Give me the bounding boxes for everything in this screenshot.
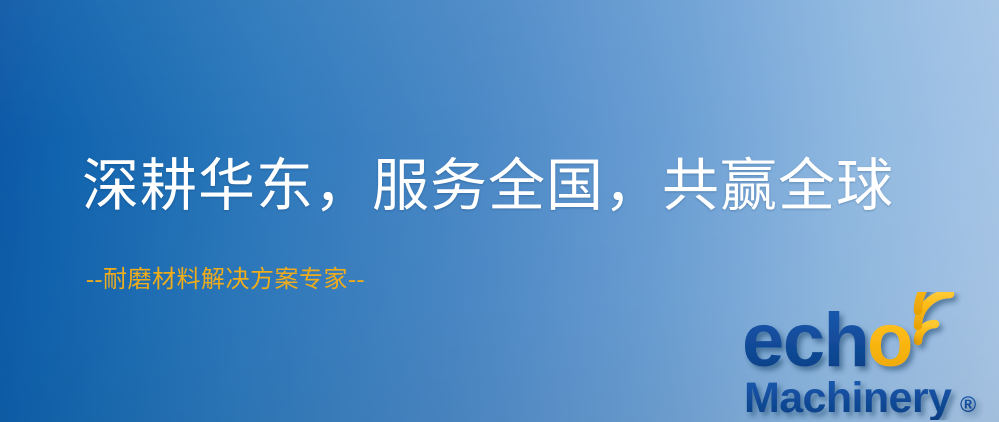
logo-tagline: Machinery — [744, 374, 952, 420]
logo-wordmark-ech: ech — [742, 298, 868, 383]
logo-artwork: ech o Machinery ® — [742, 292, 994, 420]
logo-wordmark-o: o — [867, 298, 913, 383]
logo-trademark-symbol: ® — [960, 392, 976, 417]
echo-machinery-logo[interactable]: ech o Machinery ® — [742, 292, 994, 420]
hero-banner: 深耕华东，服务全国，共赢全球 --耐磨材料解决方案专家-- — [0, 0, 999, 422]
page-title: 深耕华东，服务全国，共赢全球 — [82, 155, 894, 219]
page-subtitle: --耐磨材料解决方案专家-- — [86, 266, 365, 295]
echo-signal-waves-icon — [918, 292, 965, 341]
